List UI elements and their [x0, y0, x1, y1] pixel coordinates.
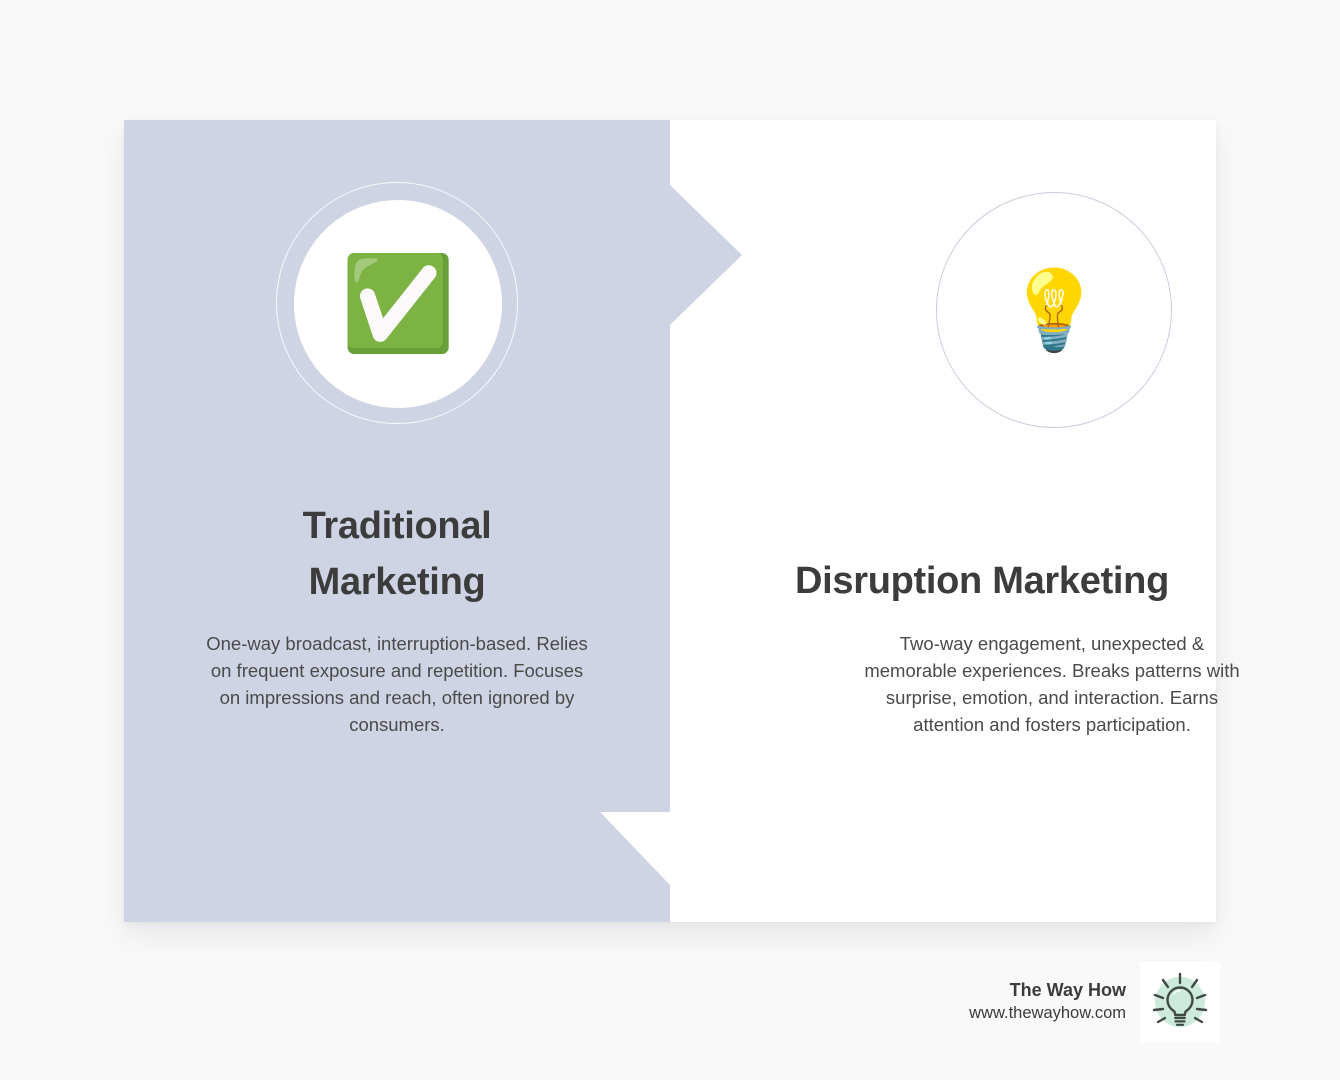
panel-disruption-marketing: 💡 Disruption Marketing Two-way engagemen…: [746, 120, 1216, 922]
disruption-description: Two-way engagement, unexpected & memorab…: [856, 630, 1248, 738]
brand-url[interactable]: www.thewayhow.com: [969, 1003, 1126, 1025]
disruption-icon-badge: 💡: [936, 192, 1172, 428]
traditional-icon-badge: ✅: [276, 182, 520, 426]
traditional-title-line-1: Traditional: [180, 498, 614, 554]
brand-name: The Way How: [969, 979, 1126, 1003]
disruption-title: Disruption Marketing: [766, 553, 1198, 609]
traditional-title-line-2: Marketing: [180, 554, 614, 610]
light-bulb-emoji-icon: 💡: [1005, 271, 1102, 349]
brand-text-block: The Way How www.thewayhow.com: [969, 979, 1126, 1025]
brand-logo: [1140, 962, 1220, 1042]
traditional-title: Traditional Marketing: [180, 498, 614, 610]
traditional-description: One-way broadcast, interruption-based. R…: [202, 630, 592, 738]
lightbulb-idea-icon: [1144, 966, 1216, 1038]
white-check-mark-emoji-icon: ✅: [341, 258, 456, 350]
brand-footer: The Way How www.thewayhow.com: [952, 962, 1220, 1042]
comparison-card: 💡 Disruption Marketing Two-way engagemen…: [124, 120, 1216, 922]
